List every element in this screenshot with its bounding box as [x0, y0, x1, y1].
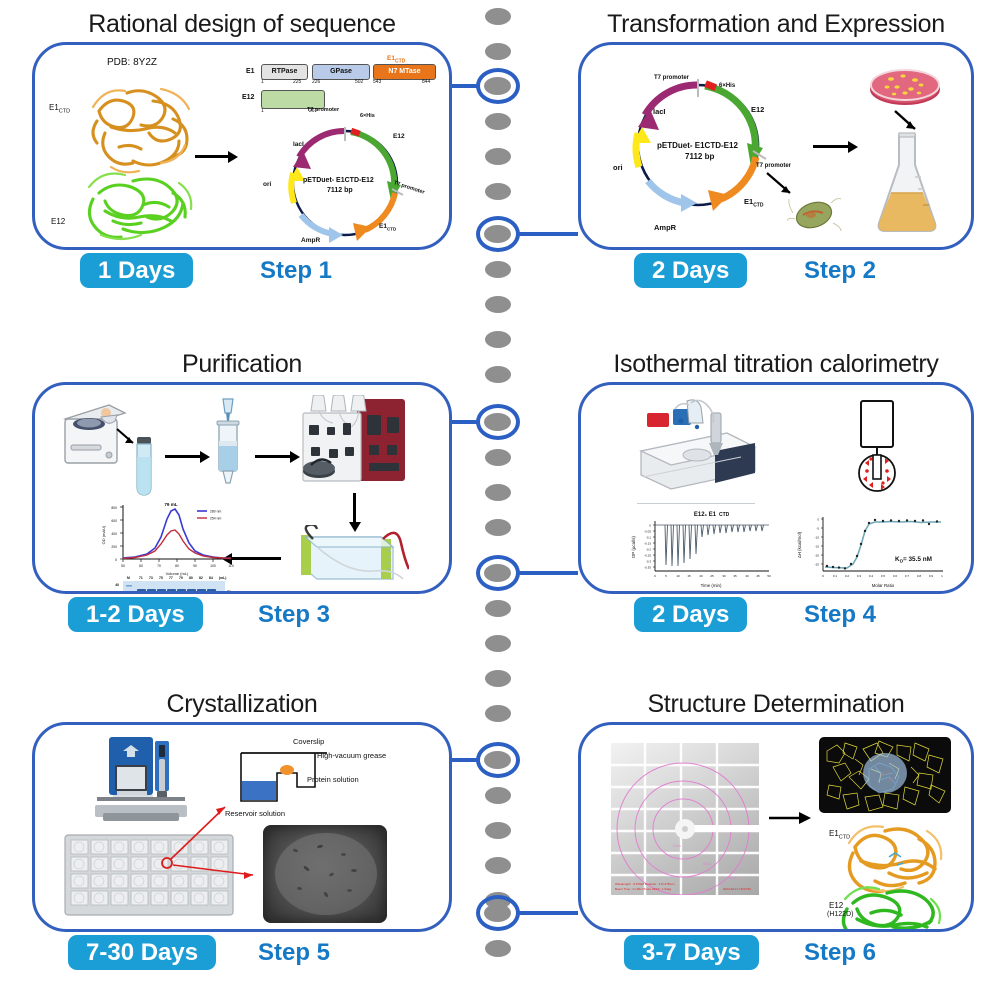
plasmid2-feature-e1ctd: E1CTD — [744, 197, 763, 209]
svg-text:-0.2: -0.2 — [646, 548, 652, 552]
svg-text:254 nm: 254 nm — [210, 517, 221, 521]
plasmid-feature-e12: E12 — [393, 133, 405, 140]
density-map-mesh — [819, 737, 951, 813]
badge-row-step5: 7-30 Days Step 5 — [32, 935, 452, 977]
diffraction-overlay: Wavelength : 0.97918 Detector : 172.675m… — [611, 743, 759, 895]
plasmid-feature-ori: ori — [263, 181, 271, 188]
plasmid-name: pETDuet- E1CTD-E12 — [303, 177, 374, 184]
svg-text:0.5: 0.5 — [881, 574, 886, 578]
svg-text:Molar Ratio: Molar Ratio — [872, 583, 895, 588]
svg-text:600: 600 — [111, 519, 117, 523]
timeline-dot — [485, 670, 511, 687]
timeline-dot — [485, 484, 511, 501]
plasmid2-feature-6xhis: 6×His — [719, 83, 735, 89]
svg-text:Wavelength : 0.97918 Detector: Wavelength : 0.97918 Detector : 172.675m… — [615, 882, 675, 886]
arrow-centrifuge-to-tube — [115, 427, 141, 451]
timeline-dot — [485, 113, 511, 130]
domain-gpase: GPase — [312, 64, 370, 80]
flow-arrow-3b — [255, 455, 291, 458]
drop-specks — [283, 841, 369, 907]
panel-box-step3[interactable]: 0 200 400 600 800 50 60 70 80 90 100 110… — [32, 382, 452, 594]
flow-arrow-step2 — [813, 145, 849, 148]
label-high-vacuum-grease: High-vacuum grease — [317, 751, 386, 760]
itc-divider — [637, 503, 755, 504]
connector-step2 — [516, 232, 578, 236]
domain-label-e12: E12 — [242, 94, 254, 101]
svg-text:0: 0 — [654, 574, 656, 578]
svg-text:-0.1: -0.1 — [646, 536, 652, 540]
plasmid2-feature-e12: E12 — [751, 105, 764, 114]
panel-box-step2[interactable]: T7 promoter 6×His E12 T7 promoter E1CTD … — [578, 42, 974, 250]
svg-text:E12₁ E1: E12₁ E1 — [694, 512, 717, 518]
svg-text:0: 0 — [822, 574, 824, 578]
structure-label-h122d: (H122D) — [827, 911, 853, 918]
itc-cell-syringe-schematic — [839, 399, 915, 495]
svg-text:79 mL: 79 mL — [164, 502, 177, 507]
panel-step4: Isothermal titration calorimetry — [578, 352, 974, 639]
domain-label-e1: E1 — [246, 68, 255, 75]
svg-text:40: 40 — [115, 583, 119, 587]
structure-label-e12-step6: E12 — [829, 901, 843, 910]
domain-tag-e1ctd: E1CTD — [387, 55, 405, 64]
step-label-step3: Step 3 — [258, 597, 330, 627]
timeline-dot — [485, 331, 511, 348]
svg-text:ΔH (kcal/mol): ΔH (kcal/mol) — [797, 531, 802, 558]
svg-text:45: 45 — [756, 574, 760, 578]
timeline-dot — [485, 183, 511, 200]
timeline-dot — [485, 600, 511, 617]
svg-text:0.9: 0.9 — [929, 574, 934, 578]
timeline-dot — [484, 564, 511, 582]
panel-box-step5[interactable]: Coverslip High-vacuum grease Protein sol… — [32, 722, 452, 932]
step-label-step2: Step 2 — [804, 253, 876, 283]
agar-plate-icon — [867, 63, 943, 109]
days-badge-step3: 1-2 Days — [68, 597, 203, 632]
svg-text:1: 1 — [941, 574, 943, 578]
flow-arrow — [195, 155, 229, 158]
timeline-dot — [484, 904, 511, 922]
panel-step5: Crystallization Coverslip High-vacuum gr — [32, 692, 452, 977]
domain-coord-502: 502 — [355, 79, 363, 85]
dialysis-tank-icon — [297, 525, 409, 587]
svg-text:200: 200 — [111, 545, 117, 549]
domain-e12-coord-1: 1 — [261, 108, 264, 114]
svg-text:84: 84 — [209, 576, 213, 580]
svg-text:-10: -10 — [815, 536, 820, 540]
panel-title-step3: Purification — [32, 352, 452, 382]
timeline-dot — [485, 822, 511, 839]
domain-rtpase: RTPase — [261, 64, 308, 80]
flow-arrow-3c — [353, 493, 356, 523]
svg-text:20: 20 — [699, 574, 703, 578]
svg-text:3.0 A: 3.0 A — [703, 862, 711, 866]
connector-step6 — [516, 911, 578, 915]
itc-thermogram: E12₁ E1 0 - — [625, 509, 775, 591]
svg-text:DP (µcal/s): DP (µcal/s) — [631, 536, 636, 558]
svg-text:-25: -25 — [815, 563, 820, 567]
timeline-dot — [485, 940, 511, 957]
days-badge-step5: 7-30 Days — [68, 935, 216, 970]
svg-text:-0.05: -0.05 — [644, 530, 651, 534]
svg-text:800: 800 — [111, 506, 117, 510]
svg-text:110: 110 — [228, 564, 234, 568]
timeline-dot — [485, 449, 511, 466]
timeline-dot — [485, 519, 511, 536]
svg-text:5.0 A: 5.0 A — [729, 876, 737, 880]
gravity-column-icon — [211, 397, 245, 489]
domain-coord-543: 543 — [373, 79, 381, 85]
svg-text:50: 50 — [121, 564, 125, 568]
badge-row-step2: 2 Days Step 2 — [578, 253, 974, 295]
badge-row-step3: 1-2 Days Step 3 — [32, 597, 452, 639]
timeline-dot — [485, 705, 511, 722]
svg-text:-0.25: -0.25 — [644, 554, 651, 558]
flow-arrow-3a — [165, 455, 201, 458]
timeline-dot — [485, 296, 511, 313]
svg-text:0.4: 0.4 — [869, 574, 874, 578]
timeline-dot — [484, 413, 511, 431]
timeline-track — [478, 0, 518, 996]
panel-title-step2: Transformation and Expression — [578, 12, 974, 42]
fplc-system-icon — [299, 395, 409, 487]
itc-plot-title-sub: CTD — [719, 512, 729, 518]
plasmid-size: 7112 bp — [327, 187, 353, 194]
svg-text:-5: -5 — [816, 527, 819, 531]
svg-text:2024-02-17 15:04:56: 2024-02-17 15:04:56 — [723, 887, 751, 891]
svg-text:0.6: 0.6 — [893, 574, 898, 578]
plasmid2-feature-t7-promoter-right: T7 promoter — [756, 163, 791, 169]
svg-text:-20: -20 — [815, 554, 820, 558]
timeline-dot — [485, 43, 511, 60]
plasmid2-feature-t7-promoter-top: T7 promoter — [654, 75, 689, 81]
svg-text:79: 79 — [179, 576, 183, 580]
plasmid2-name: pETDuet- E1CTD-E12 — [657, 141, 738, 150]
timeline-dot — [485, 261, 511, 278]
sds-page-gel: M7173 757779 808284 (mL) 40 35 25 E1E12 — [97, 573, 237, 594]
plasmid2-size: 7112 bp — [685, 152, 714, 161]
panel-step1: Rational design of sequence PDB: 8Y2Z — [32, 12, 452, 295]
svg-text:-0.3: -0.3 — [646, 560, 652, 564]
domain-coord-226: 226 — [312, 79, 320, 85]
svg-text:0.3: 0.3 — [857, 574, 862, 578]
panel-step3: Purification — [32, 352, 452, 639]
svg-text:30: 30 — [722, 574, 726, 578]
svg-text:35: 35 — [115, 592, 119, 594]
structure-label-e12: E12 — [51, 217, 65, 226]
svg-text:77: 77 — [169, 576, 173, 580]
svg-text:400: 400 — [111, 532, 117, 536]
svg-text:0.7: 0.7 — [905, 574, 910, 578]
svg-text:OD (mAU): OD (mAU) — [101, 525, 106, 544]
connector-step4 — [516, 571, 578, 575]
svg-text:Time (min): Time (min) — [701, 583, 722, 588]
svg-text:0.8: 0.8 — [917, 574, 922, 578]
svg-text:25: 25 — [710, 574, 714, 578]
svg-text:-15: -15 — [815, 545, 820, 549]
svg-text:35: 35 — [733, 574, 737, 578]
svg-text:70: 70 — [157, 564, 161, 568]
itc-binding-isotherm: 0-5 -10-15 -20-25 00.1 0.20.3 0.40.5 0.6… — [791, 509, 951, 591]
panel-title-step5: Crystallization — [32, 692, 452, 722]
svg-text:5: 5 — [665, 574, 667, 578]
domain-coord-1: 1 — [261, 79, 264, 85]
structure-label-e1ctd-step6: E1CTD — [829, 829, 850, 841]
timeline-dot — [484, 751, 511, 769]
timeline-dot — [485, 787, 511, 804]
plasmid-feature-e1ctd: E1CTD — [379, 223, 396, 231]
label-coverslip: Coverslip — [293, 737, 324, 746]
svg-text:0.2: 0.2 — [845, 574, 850, 578]
svg-text:-0.15: -0.15 — [644, 542, 651, 546]
timeline-dot — [484, 77, 511, 95]
svg-text:M: M — [127, 576, 130, 580]
panel-step2: Transformation and Expression T7 promote… — [578, 12, 974, 295]
svg-text:Beam Time : 0.100s Phase Width: Beam Time : 0.100s Phase Width : 1.0deg — [615, 887, 672, 891]
panel-title-step6: Structure Determination — [578, 692, 974, 722]
badge-row-step6: 3-7 Days Step 6 — [578, 935, 974, 977]
svg-text:71: 71 — [139, 576, 143, 580]
svg-text:82: 82 — [199, 576, 203, 580]
svg-text:0: 0 — [817, 518, 819, 522]
svg-text:90: 90 — [193, 564, 197, 568]
days-badge-step6: 3-7 Days — [624, 935, 759, 970]
svg-text:0: 0 — [649, 524, 651, 528]
plasmid-feature-ampr: AmpR — [301, 237, 320, 244]
timeline-dot — [484, 225, 511, 243]
days-badge-step1: 1 Days — [80, 253, 193, 288]
svg-text:40: 40 — [745, 574, 749, 578]
svg-text:15: 15 — [687, 574, 691, 578]
svg-text:73: 73 — [149, 576, 153, 580]
svg-text:280 nm: 280 nm — [210, 510, 221, 514]
arrow-diffraction-to-structure — [767, 809, 813, 827]
panel-step6: Structure Determination Wavelength : 0.9… — [578, 692, 974, 977]
plasmid-feature-t7-promoter-top: T7 promoter — [307, 107, 339, 113]
svg-text:80: 80 — [189, 576, 193, 580]
timeline-dot — [485, 8, 511, 25]
svg-text:75: 75 — [159, 576, 163, 580]
step-label-step6: Step 6 — [804, 935, 876, 965]
timeline-dot — [485, 148, 511, 165]
panel-box-step6[interactable]: Wavelength : 0.97918 Detector : 172.675m… — [578, 722, 974, 932]
structure-label-e1ctd: E1CTD — [49, 103, 70, 115]
svg-text:0: 0 — [115, 558, 117, 562]
svg-text:80: 80 — [175, 564, 179, 568]
svg-text:10: 10 — [676, 574, 680, 578]
svg-text:E1: E1 — [227, 590, 231, 594]
timeline-dot — [485, 635, 511, 652]
arrow-to-cell — [765, 171, 799, 201]
domain-coord-844: 844 — [422, 79, 430, 85]
step-label-step1: Step 1 — [260, 253, 332, 283]
days-badge-step2: 2 Days — [634, 253, 747, 288]
step-label-step4: Step 4 — [804, 597, 876, 627]
svg-text:0.1: 0.1 — [833, 574, 838, 578]
panel-box-step4[interactable]: E12₁ E1 0 - — [578, 382, 974, 594]
days-badge-step4: 2 Days — [634, 597, 747, 632]
step-label-step5: Step 5 — [258, 935, 330, 965]
plasmid2-feature-lacl: lacI — [653, 107, 666, 116]
plasmid2-feature-ori: ori — [613, 163, 623, 172]
itc-instrument-icon — [631, 399, 761, 491]
pdb-label: PDB: 8Y2Z — [107, 57, 157, 68]
panel-title-step4: Isothermal titration calorimetry — [578, 352, 974, 382]
svg-text:100: 100 — [210, 564, 216, 568]
svg-text:(mL): (mL) — [219, 576, 226, 580]
domain-coord-225: 225 — [293, 79, 301, 85]
panel-title-step1: Rational design of sequence — [32, 12, 452, 42]
domain-n7mtase: N7 MTase — [373, 64, 436, 80]
label-protein-solution: Protein solution — [307, 775, 359, 784]
badge-row-step4: 2 Days Step 4 — [578, 597, 974, 639]
erlenmeyer-flask-icon — [871, 131, 943, 235]
panel-box-step1[interactable]: PDB: 8Y2Z — [32, 42, 452, 250]
flow-arrow-3d — [231, 557, 281, 560]
timeline-dot — [485, 857, 511, 874]
plasmid2-feature-ampr: AmpR — [654, 223, 676, 232]
sec-chromatogram: 0 200 400 600 800 50 60 70 80 90 100 110… — [97, 501, 237, 577]
badge-row-step1: 1 Days Step 1 — [32, 253, 452, 295]
plasmid-feature-lacl: lacI — [293, 141, 304, 148]
svg-text:-0.35: -0.35 — [644, 566, 651, 570]
svg-text:50: 50 — [767, 574, 771, 578]
timeline-dot — [485, 366, 511, 383]
svg-text:60: 60 — [139, 564, 143, 568]
svg-text:= 35.5 nM: = 35.5 nM — [903, 556, 932, 563]
svg-text:2.0 A: 2.0 A — [673, 844, 681, 848]
plasmid-feature-6xhis: 6×His — [360, 113, 375, 119]
